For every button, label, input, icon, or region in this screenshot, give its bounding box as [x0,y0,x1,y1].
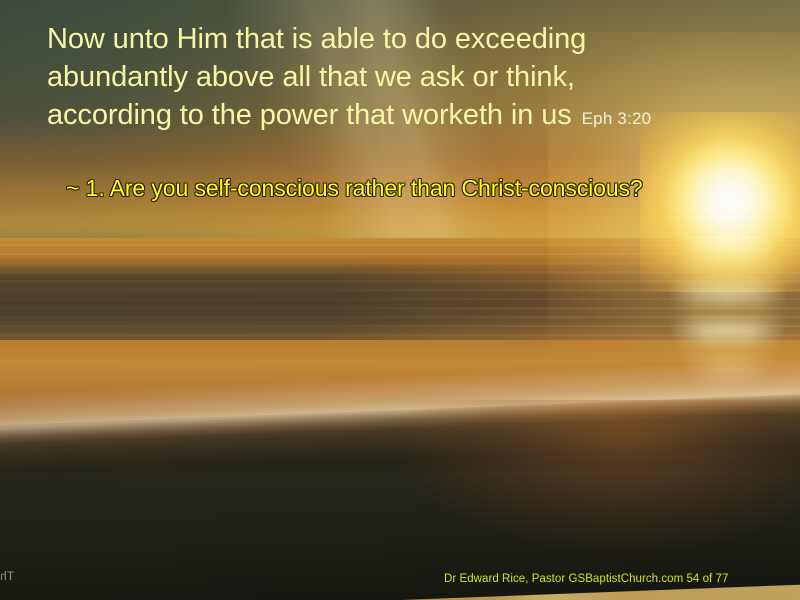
scripture-reference: Eph 3:20 [572,109,652,128]
scripture-line-3: according to the power that worketh in u… [47,99,572,131]
bullet-point-question: ~ 1. Are you self-conscious rather than … [66,174,676,203]
photo-watermark: The Beach by Rebekah Rice May 2015 [0,570,14,584]
slide-text-layer: Now unto Him that is able to do exceedin… [0,0,800,600]
scripture-line-2: abundantly above all that we ask or thin… [47,61,575,93]
presentation-slide: Now unto Him that is able to do exceedin… [0,0,800,600]
scripture-line-1: Now unto Him that is able to do exceedin… [47,23,586,55]
footer-presenter-credit: Dr Edward Rice, Pastor GSBaptistChurch.c… [444,572,728,586]
scripture-quote: Now unto Him that is able to do exceedin… [47,20,759,138]
